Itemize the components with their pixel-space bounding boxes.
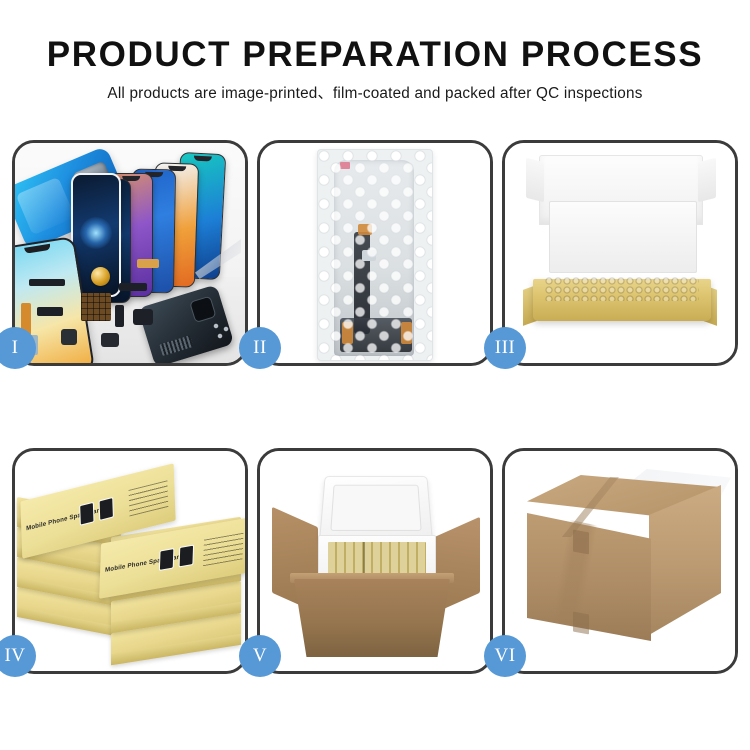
connector-icon bbox=[358, 224, 372, 235]
carton-tab-icon bbox=[573, 530, 589, 555]
process-step-panel-1[interactable]: I bbox=[12, 140, 248, 366]
notch-icon bbox=[194, 156, 213, 162]
connector-icon bbox=[137, 259, 159, 268]
process-step-panel-4[interactable]: Mobile Phone Spare Parts Mobile Phone Sp… bbox=[12, 448, 248, 674]
process-step-panel-6[interactable]: VI bbox=[502, 448, 738, 674]
screen-thumbnail-icon bbox=[179, 544, 194, 567]
flex-cable-icon bbox=[119, 283, 147, 291]
connector-icon bbox=[401, 322, 412, 344]
stacked-retail-boxes-image: Mobile Phone Spare Parts Mobile Phone Sp… bbox=[15, 451, 245, 671]
sealed-shipping-carton-image bbox=[505, 451, 735, 671]
step-badge-6: VI bbox=[484, 635, 526, 677]
screw-grid-icon bbox=[81, 293, 111, 321]
box-side bbox=[111, 634, 241, 665]
box-side bbox=[17, 607, 121, 637]
camera-module-icon bbox=[61, 329, 77, 345]
screen-thumbnail-icon bbox=[79, 502, 94, 526]
connector-icon bbox=[342, 322, 353, 344]
notch-icon bbox=[24, 244, 51, 254]
bubble-wrapped-screen-image bbox=[260, 143, 490, 363]
box-stack-group: Mobile Phone Spare Parts Mobile Phone Sp… bbox=[17, 465, 245, 671]
spec-lines-graphic bbox=[129, 480, 169, 516]
open-kraft-tray-image bbox=[505, 143, 735, 363]
styrofoam-lid-icon bbox=[319, 476, 433, 542]
step-badge-3: III bbox=[484, 327, 526, 369]
pink-label-icon bbox=[340, 162, 350, 169]
page-header: PRODUCT PREPARATION PROCESS All products… bbox=[0, 0, 750, 104]
carton-tab-icon bbox=[573, 612, 589, 635]
page-subtitle: All products are image-printed、film-coat… bbox=[0, 84, 750, 104]
step-badge-2: II bbox=[239, 327, 281, 369]
page-title: PRODUCT PREPARATION PROCESS bbox=[0, 34, 750, 76]
process-step-panel-5[interactable]: V bbox=[257, 448, 493, 674]
carton-body-icon bbox=[294, 579, 450, 657]
bubble-wrap-bag-icon bbox=[317, 149, 433, 361]
bubble-wrapped-contents-icon bbox=[545, 277, 699, 301]
process-step-panel-3[interactable]: III bbox=[502, 140, 738, 366]
process-steps-grid: I II I bbox=[12, 140, 738, 674]
spec-lines-graphic bbox=[203, 533, 243, 567]
process-step-panel-2[interactable]: II bbox=[257, 140, 493, 366]
phones-and-spare-parts-image bbox=[15, 143, 245, 363]
screen-thumbnail-icon bbox=[99, 497, 114, 521]
step-badge-5: V bbox=[239, 635, 281, 677]
flex-cable-icon bbox=[29, 279, 65, 286]
shipping-carton-icon bbox=[527, 475, 719, 643]
flex-cable-icon bbox=[37, 307, 63, 316]
screen-thumbnail-icon bbox=[159, 548, 174, 571]
foam-sheet-icon bbox=[549, 201, 697, 273]
ic-chip-icon bbox=[362, 250, 376, 261]
carton-with-styrofoam-image bbox=[260, 451, 490, 671]
kraft-tray-icon bbox=[533, 279, 711, 321]
coil-part-icon bbox=[91, 267, 110, 286]
screws-icon bbox=[213, 323, 235, 341]
flex-cable-icon bbox=[115, 305, 124, 327]
speaker-part-icon bbox=[101, 333, 119, 347]
module-part-icon bbox=[133, 309, 153, 325]
